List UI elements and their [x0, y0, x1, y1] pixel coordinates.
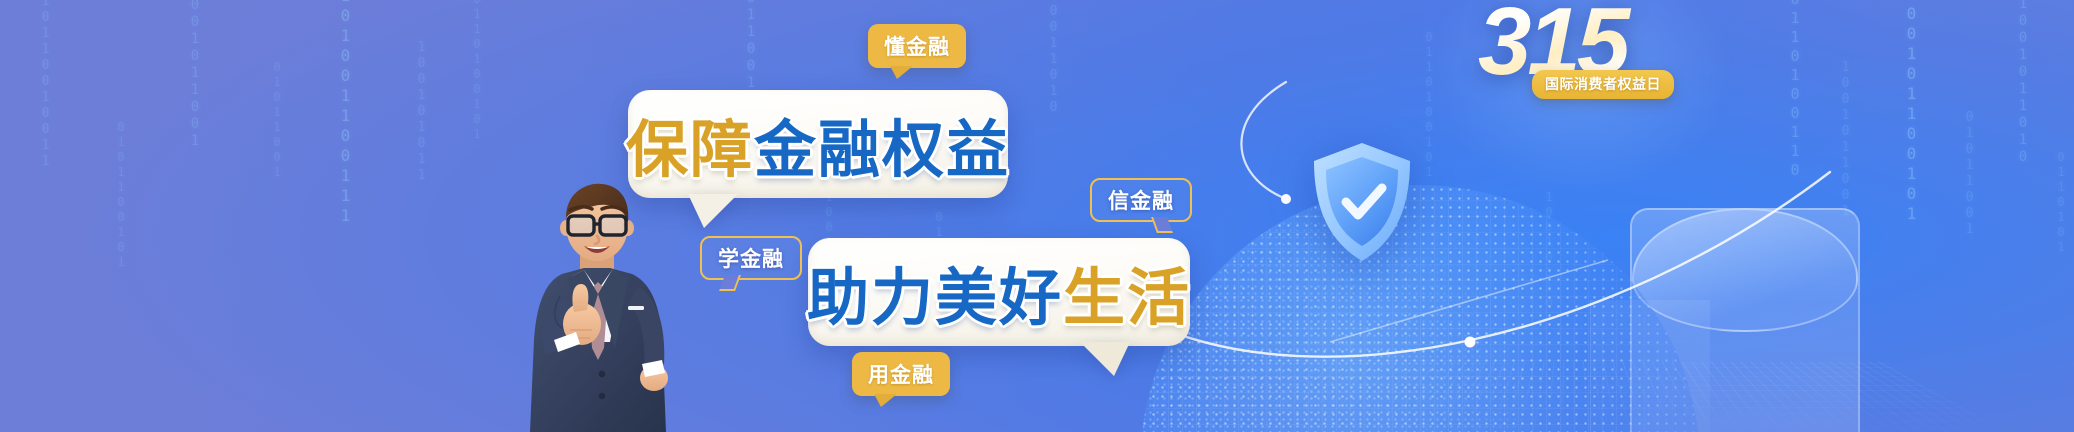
tag-xin-jinrong: 信金融	[1090, 178, 1192, 222]
tag-yong-jinrong: 用金融	[852, 352, 950, 396]
logo-315: 315 国际消费者权益日	[1478, 0, 1718, 102]
headline-line-2: 助力美好生活	[807, 247, 1191, 337]
binary-column: 0110100101	[468, 0, 486, 142]
headline-line-2-gold: 生活	[1063, 247, 1191, 337]
binary-column: 0110100110	[1786, 0, 1804, 180]
tag-xue-jinrong-label: 学金融	[718, 243, 784, 273]
tag-xue-jinrong: 学金融	[700, 236, 802, 280]
headline-line-1-blue: 金融权益	[754, 99, 1010, 189]
binary-column: 0110100101	[1420, 30, 1438, 180]
dotted-globe-icon	[1140, 185, 1700, 432]
binary-column: 100101100101	[1902, 0, 1920, 224]
binary-column: 100101011	[412, 40, 430, 184]
binary-column: 1001011010	[2014, 0, 2032, 166]
logo-315-badge: 国际消费者权益日	[1532, 70, 1674, 99]
binary-column: 10011010	[1044, 0, 1062, 116]
headline-line-1-gold: 保障	[626, 99, 754, 189]
binary-column: 01011001	[268, 60, 286, 180]
headline-line-2-blue: 助力美好	[807, 247, 1063, 337]
headline-bubble-secondary: 助力美好生活	[808, 238, 1190, 346]
globe-grid	[1140, 185, 1700, 432]
binary-column: 0110101	[2052, 150, 2070, 255]
binary-column: 101001100111	[336, 0, 354, 226]
binary-column: 1001011001	[186, 0, 204, 150]
tag-dong-jinrong-label: 懂金融	[884, 31, 950, 61]
promo-banner: 1011001001101011001011001011001010110011…	[0, 0, 2074, 432]
headline-line-1: 保障金融权益	[626, 99, 1010, 189]
businessman-thumbs-up	[498, 178, 698, 432]
binary-column: 10110010011	[36, 0, 54, 170]
shield-check-icon	[1310, 140, 1414, 264]
binary-column: 01011001	[1960, 110, 1978, 238]
headline-bubble-primary: 保障金融权益	[628, 90, 1008, 198]
binary-column: 0101100101	[112, 120, 130, 270]
binary-column: 1001011001	[1836, 60, 1854, 220]
tag-yong-jinrong-label: 用金融	[868, 359, 934, 389]
tag-xin-jinrong-label: 信金融	[1108, 185, 1174, 215]
tag-dong-jinrong: 懂金融	[868, 24, 966, 68]
